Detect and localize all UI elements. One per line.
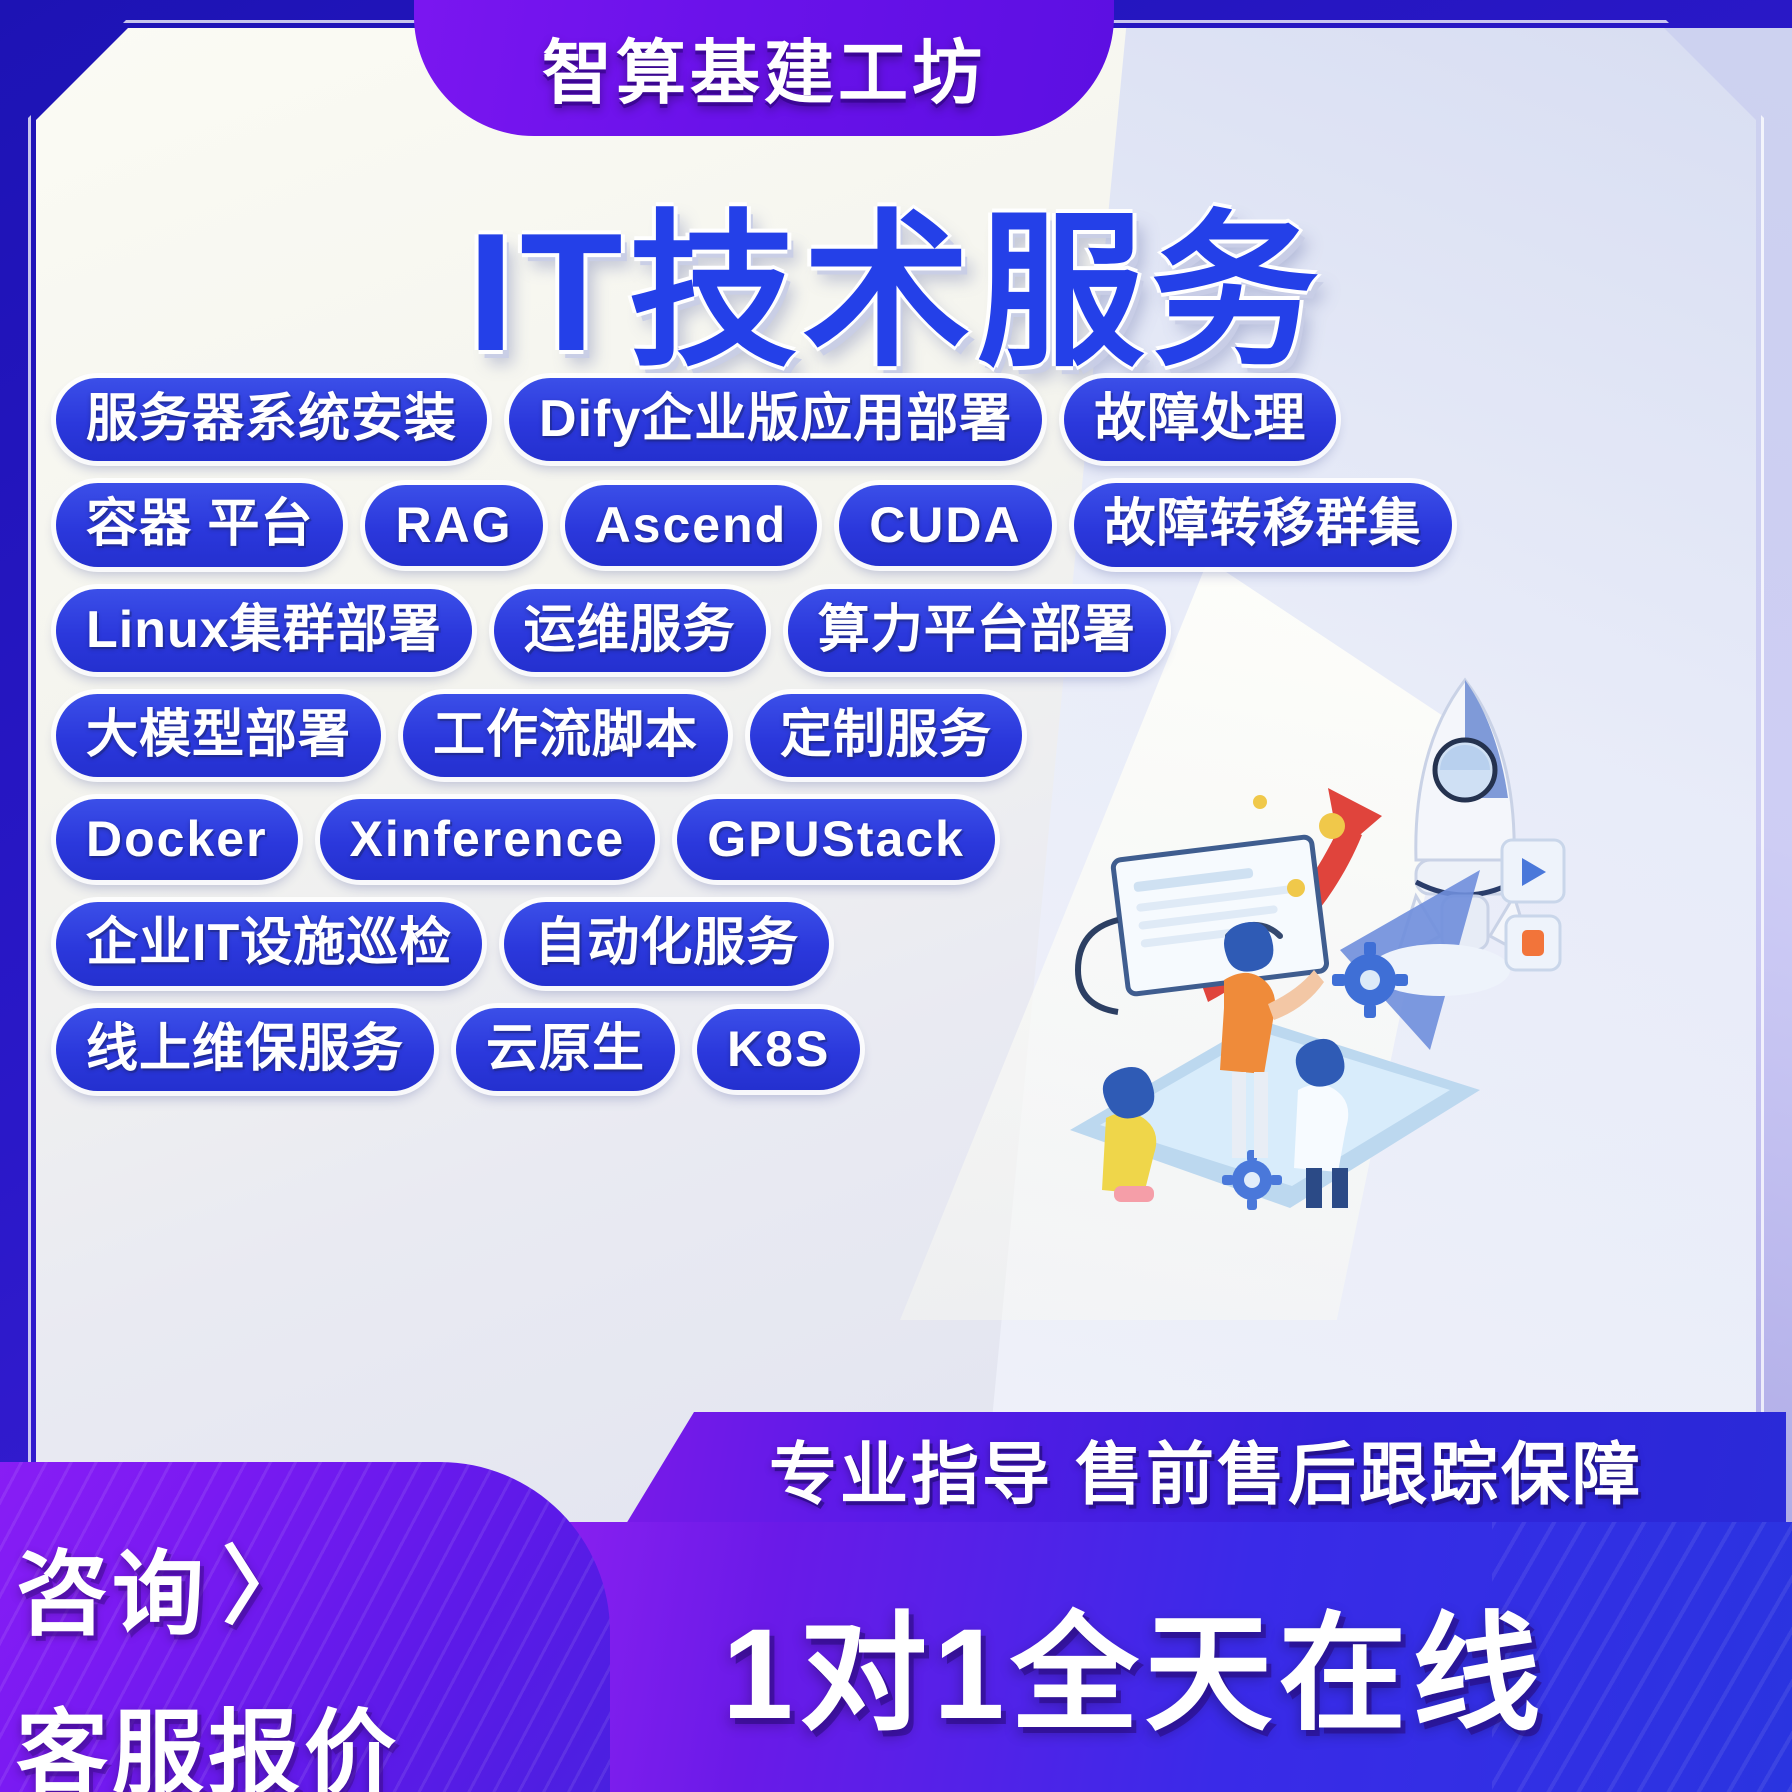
footer-cta-area: 专业指导 售前售后跟踪保障 1对1全天在线 咨询 〉 客服报价 [0,1462,1792,1792]
service-tag[interactable]: 故障处理 [1064,378,1336,461]
headline-banner: 1对1全天在线 [552,1522,1792,1792]
chevron-right-icon: 〉 [222,1544,312,1630]
tag-row: 线上维保服务 云原生 K8S [56,1008,1556,1091]
service-tag[interactable]: 服务器系统安装 [56,378,487,461]
service-tag[interactable]: Xinference [320,799,656,880]
guarantee-ribbon: 专业指导 售前售后跟踪保障 [626,1412,1786,1524]
brand-header-pill: 智算基建工坊 [414,0,1114,136]
service-tag[interactable]: RAG [365,485,542,566]
service-tag[interactable]: GPUStack [677,799,995,880]
quote-label: 客服报价 [16,1679,400,1792]
service-tag[interactable]: 定制服务 [750,694,1022,777]
promo-poster: 智算基建工坊 IT技术服务 服务器系统安装 Dify企业版应用部署 故障处理 容… [0,0,1792,1792]
brand-title: 智算基建工坊 [542,17,986,118]
tag-row: 企业IT设施巡检 自动化服务 [56,902,1556,985]
guarantee-text: 专业指导 售前售后跟踪保障 [769,1419,1643,1518]
service-tag[interactable]: 运维服务 [494,589,766,672]
service-tag[interactable]: 工作流脚本 [403,694,728,777]
service-tag[interactable]: Ascend [565,485,818,566]
page-title: IT技术服务 [0,156,1792,399]
service-tag[interactable]: K8S [697,1009,860,1090]
consult-cta-button[interactable]: 咨询 〉 客服报价 [0,1462,610,1792]
service-tag[interactable]: Docker [56,799,298,880]
service-tag[interactable]: 故障转移群集 [1074,483,1452,566]
tag-row: 服务器系统安装 Dify企业版应用部署 故障处理 [56,378,1556,461]
headline-text: 1对1全天在线 [722,1570,1546,1755]
service-tag[interactable]: 容器 平台 [56,483,343,566]
service-tag[interactable]: 自动化服务 [504,902,829,985]
tag-row: 容器 平台 RAG Ascend CUDA 故障转移群集 [56,483,1556,566]
consult-label-row: 咨询 〉 [16,1520,400,1653]
tag-row: 大模型部署 工作流脚本 定制服务 [56,694,1556,777]
service-tag[interactable]: Dify企业版应用部署 [509,378,1042,461]
service-tag[interactable]: 算力平台部署 [788,589,1166,672]
service-tag[interactable]: 云原生 [456,1008,675,1091]
service-tag[interactable]: 线上维保服务 [56,1008,434,1091]
service-tag[interactable]: 大模型部署 [56,694,381,777]
consult-cta-inner: 咨询 〉 客服报价 [16,1520,400,1792]
consult-label: 咨询 [16,1520,208,1653]
tag-row: Linux集群部署 运维服务 算力平台部署 [56,589,1556,672]
service-tag-list: 服务器系统安装 Dify企业版应用部署 故障处理 容器 平台 RAG Ascen… [56,378,1556,1113]
service-tag[interactable]: Linux集群部署 [56,589,472,672]
service-tag[interactable]: CUDA [839,485,1051,566]
service-tag[interactable]: 企业IT设施巡检 [56,902,482,985]
tag-row: Docker Xinference GPUStack [56,799,1556,880]
